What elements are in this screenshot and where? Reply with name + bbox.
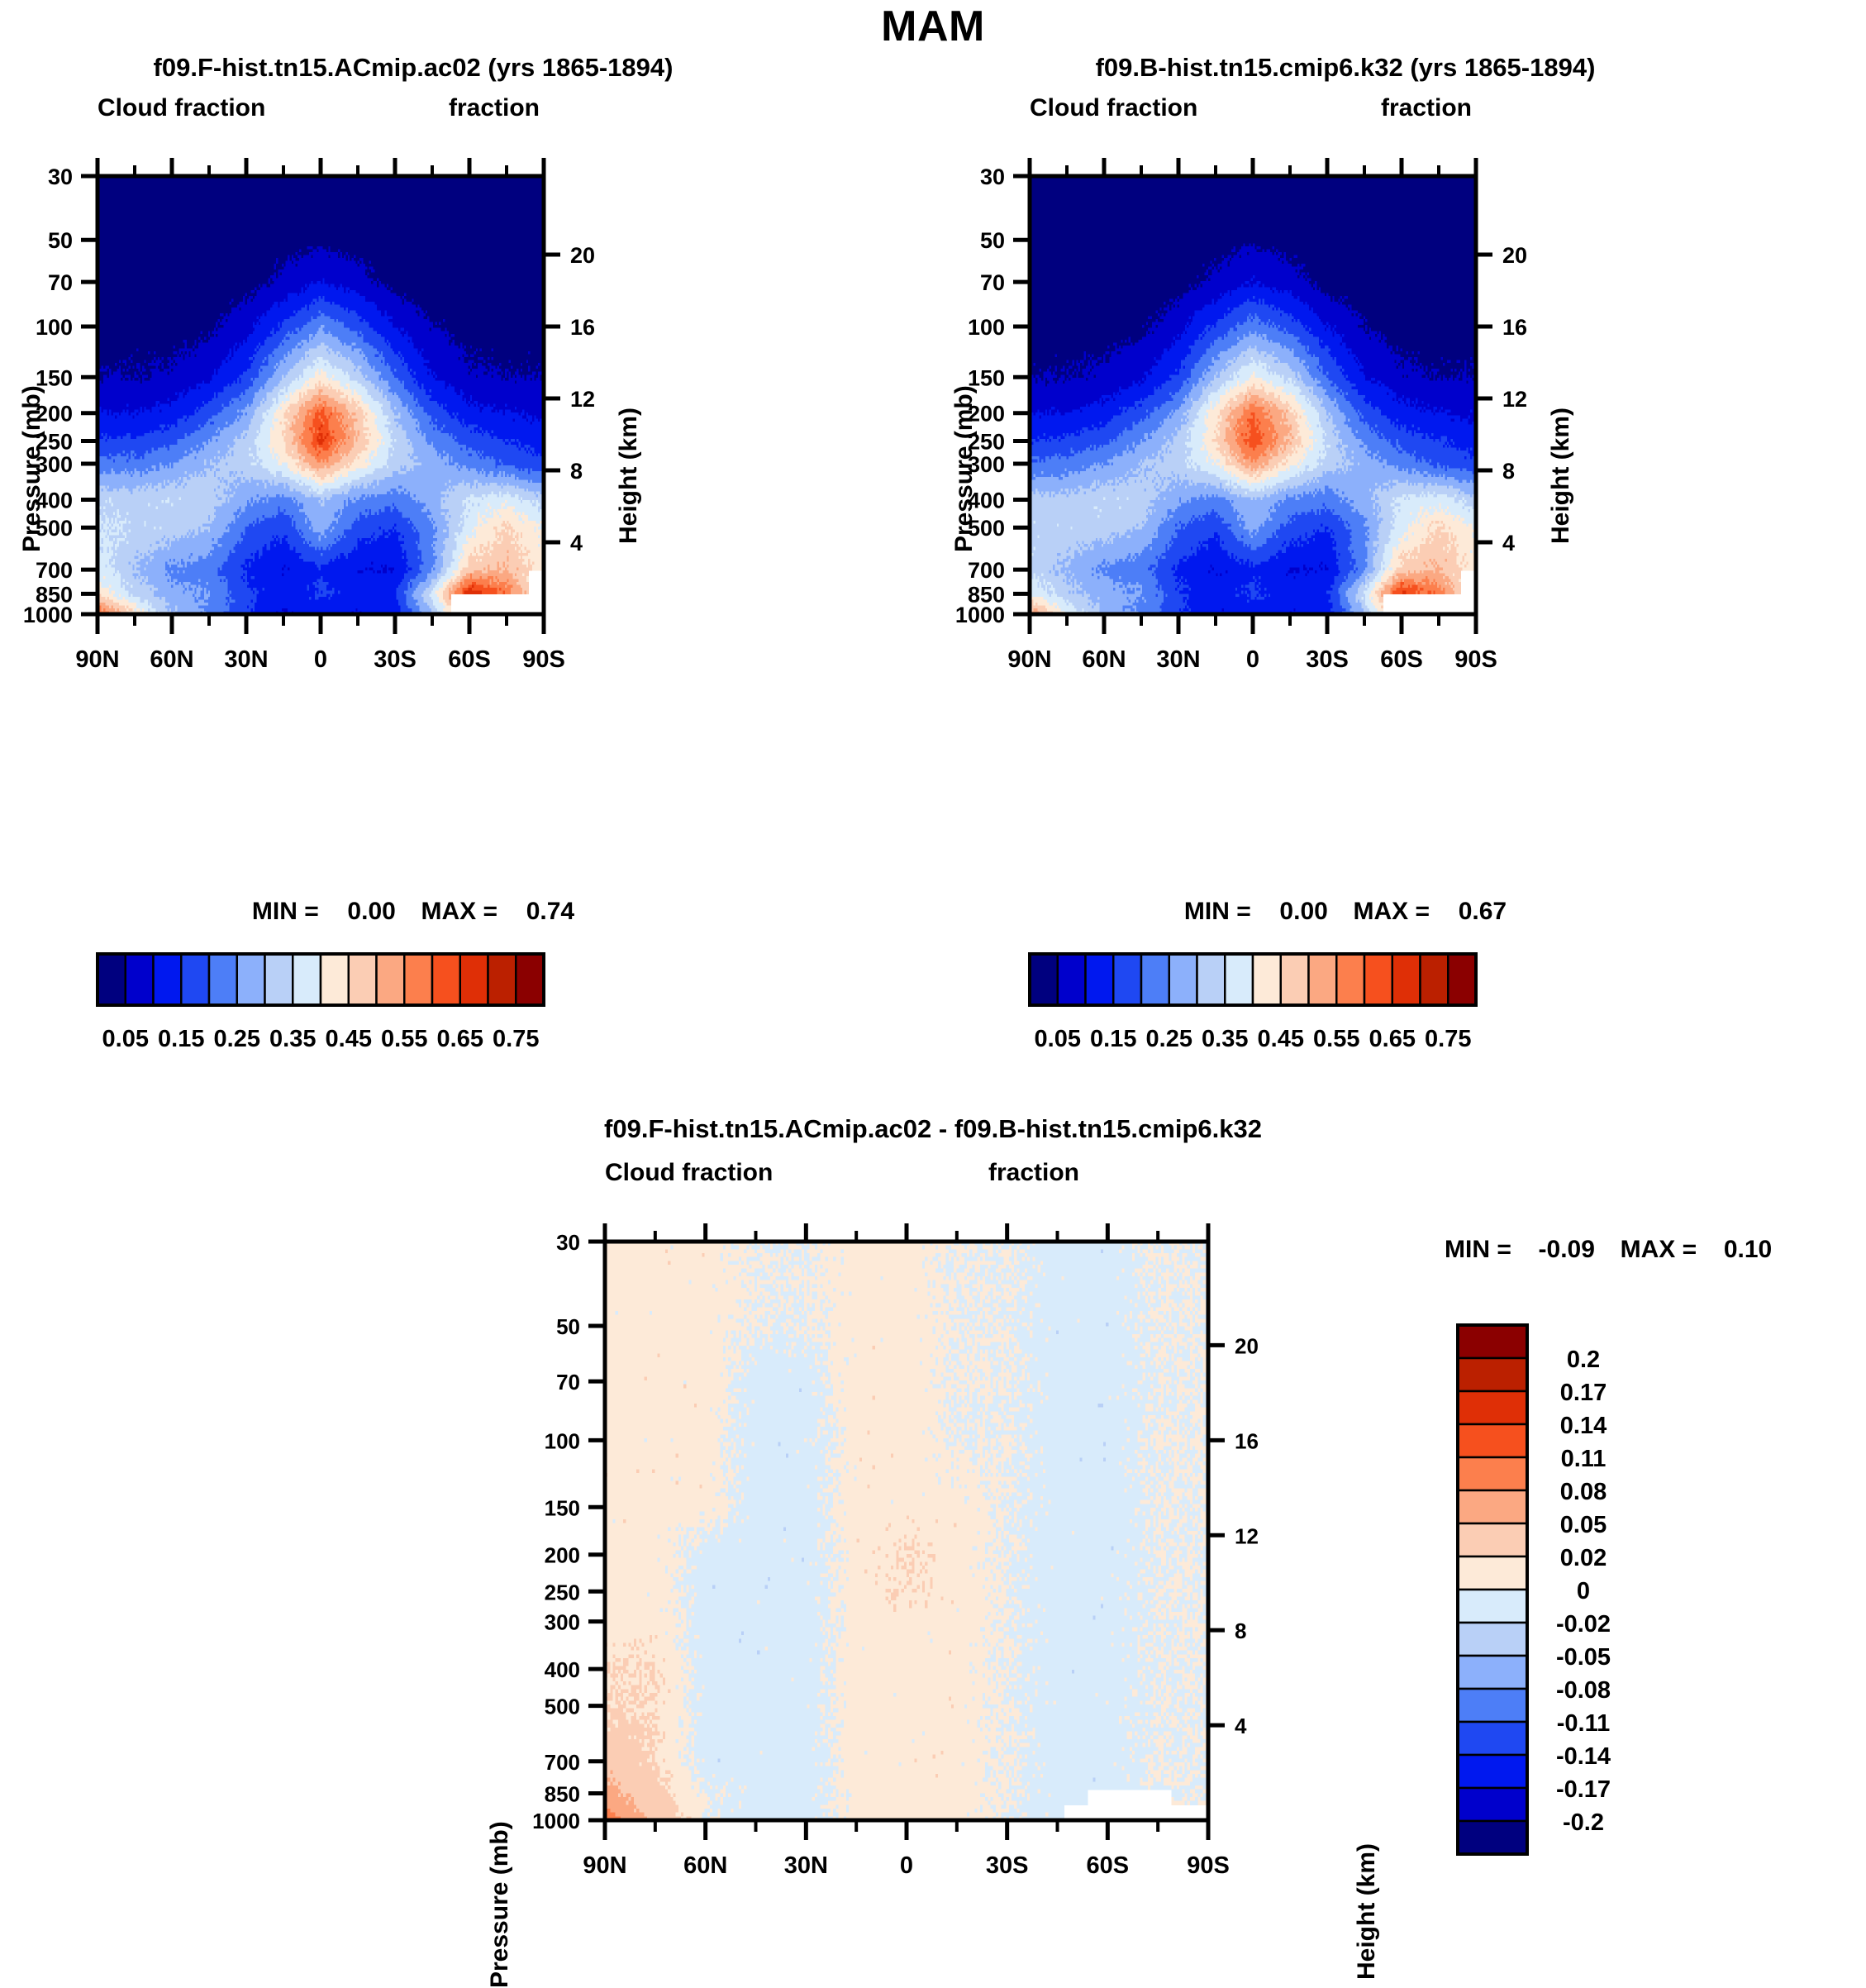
panel-right-minmax: MIN = 0.00 MAX = 0.67: [932, 898, 1759, 926]
colorbar-swatch: [1086, 954, 1114, 1005]
pressure-tick-label: 200: [545, 1543, 580, 1568]
panel-left-max-label: MAX =: [421, 898, 498, 925]
colorbar-tick-label: 0.11: [1561, 1446, 1607, 1472]
colorbar-swatch: [1392, 954, 1421, 1005]
pressure-tick-label: 250: [36, 429, 73, 454]
colorbar-swatch: [1458, 1557, 1527, 1590]
latitude-tick-label: 30N: [1156, 646, 1200, 673]
colorbar-tick-label: 0.15: [158, 1026, 204, 1052]
latitude-tick-label: 90N: [1007, 646, 1051, 673]
colorbar-tick-label: -0.08: [1556, 1677, 1611, 1704]
pressure-tick-label: 700: [545, 1750, 580, 1775]
colorbar-swatch: [1309, 954, 1337, 1005]
pressure-tick-label: 70: [48, 270, 73, 295]
colorbar-tick-label: 0.05: [102, 1026, 149, 1052]
latitude-tick-label: 60N: [150, 646, 193, 673]
latitude-tick-label: 90N: [583, 1852, 626, 1879]
panel-diff-min-label: MIN =: [1445, 1236, 1511, 1263]
latitude-tick-label: 0: [314, 646, 327, 673]
colorbar-tick-label: 0.55: [1313, 1026, 1359, 1052]
latitude-tick-label: 90S: [522, 646, 565, 673]
colorbar-swatch: [1364, 954, 1392, 1005]
panel-right-max-label: MAX =: [1354, 898, 1430, 925]
panel-left-plot: 3050701001502002503004005007008501000201…: [0, 48, 934, 924]
pressure-tick-label: 1000: [23, 603, 73, 627]
latitude-tick-label: 60S: [1087, 1852, 1130, 1879]
latitude-tick-label: 60N: [683, 1852, 727, 1879]
pressure-tick-label: 70: [980, 270, 1005, 295]
latitude-tick-label: 90N: [75, 646, 119, 673]
latitude-tick-label: 0: [1246, 646, 1259, 673]
colorbar-swatch: [181, 954, 209, 1005]
colorbar-tick-label: 0.25: [1146, 1026, 1192, 1052]
pressure-tick-label: 100: [968, 315, 1005, 340]
colorbar-swatch: [293, 954, 321, 1005]
pressure-tick-label: 400: [968, 489, 1005, 513]
colorbar-swatch: [237, 954, 265, 1005]
pressure-tick-label: 70: [556, 1370, 580, 1394]
pressure-tick-label: 150: [968, 365, 1005, 390]
pressure-tick-label: 700: [968, 558, 1005, 583]
colorbar-swatch: [98, 954, 126, 1005]
colorbar-swatch: [1141, 954, 1169, 1005]
colorbar-tick-label: 0.45: [326, 1026, 372, 1052]
pressure-tick-label: 400: [545, 1657, 580, 1682]
panel-left: f09.F-hist.tn15.ACmip.ac02 (yrs 1865-189…: [0, 48, 934, 1131]
pressure-tick-label: 30: [980, 164, 1005, 189]
colorbar-tick-label: 0.55: [381, 1026, 427, 1052]
latitude-tick-label: 90S: [1454, 646, 1497, 673]
panel-left-max-value: 0.74: [526, 898, 574, 925]
colorbar-swatch: [1421, 954, 1449, 1005]
colorbar-tick-label: 0.17: [1560, 1380, 1607, 1406]
colorbar-swatch: [1458, 1623, 1527, 1656]
pressure-tick-label: 50: [980, 228, 1005, 253]
colorbar-swatch: [1458, 1457, 1527, 1490]
pressure-tick-label: 200: [36, 402, 73, 427]
colorbar-tick-label: 0.25: [214, 1026, 260, 1052]
pressure-tick-label: 250: [968, 429, 1005, 454]
latitude-tick-label: 30N: [784, 1852, 828, 1879]
latitude-tick-label: 30S: [1306, 646, 1349, 673]
colorbar-swatch: [126, 954, 154, 1005]
colorbar-swatch: [1169, 954, 1197, 1005]
pressure-tick-label: 30: [48, 164, 73, 189]
colorbar-swatch: [1458, 1325, 1527, 1358]
colorbar-swatch: [321, 954, 349, 1005]
colorbar-swatch: [265, 954, 293, 1005]
colorbar-tick-label: 0.75: [1425, 1026, 1471, 1052]
colorbar-swatch: [516, 954, 544, 1005]
panel-diff-max-value: 0.10: [1724, 1236, 1772, 1263]
latitude-tick-label: 90S: [1187, 1852, 1230, 1879]
latitude-tick-label: 0: [900, 1852, 913, 1879]
panel-right-min-label: MIN =: [1184, 898, 1251, 925]
panel-diff-min-value: -0.09: [1539, 1236, 1595, 1263]
pressure-tick-label: 150: [545, 1495, 580, 1520]
panel-diff-colorbar: 0.20.170.140.110.080.050.020-0.02-0.05-0…: [1438, 1310, 1785, 1905]
panel-right: f09.B-hist.tn15.cmip6.k32 (yrs 1865-1894…: [932, 48, 1866, 1131]
colorbar-swatch: [349, 954, 377, 1005]
colorbar-swatch: [154, 954, 182, 1005]
pressure-tick-label: 250: [545, 1580, 580, 1604]
latitude-tick-label: 30S: [986, 1852, 1029, 1879]
colorbar-tick-label: 0.35: [269, 1026, 316, 1052]
panel-right-max-value: 0.67: [1459, 898, 1507, 925]
pressure-tick-label: 500: [968, 516, 1005, 541]
pressure-tick-label: 200: [968, 402, 1005, 427]
pressure-tick-label: 300: [545, 1610, 580, 1635]
colorbar-swatch: [377, 954, 405, 1005]
panel-diff: f09.F-hist.tn15.ACmip.ac02 - f09.B-hist.…: [0, 1108, 1866, 1957]
pressure-tick-label: 150: [36, 365, 73, 390]
colorbar-tick-label: 0.45: [1258, 1026, 1304, 1052]
colorbar-swatch: [488, 954, 516, 1005]
pressure-tick-label: 1000: [955, 603, 1005, 627]
panel-left-min-value: 0.00: [347, 898, 395, 925]
colorbar-tick-label: 0.2: [1567, 1347, 1600, 1373]
colorbar-swatch: [1458, 1689, 1527, 1722]
pressure-tick-label: 50: [48, 228, 73, 253]
pressure-tick-label: 100: [36, 315, 73, 340]
latitude-tick-label: 60S: [1380, 646, 1423, 673]
figure-title: MAM: [0, 2, 1866, 51]
colorbar-swatch: [1448, 954, 1476, 1005]
colorbar-swatch: [1113, 954, 1141, 1005]
panel-right-colorbar: 0.050.150.250.350.450.550.650.75: [932, 929, 1759, 1078]
pressure-tick-label: 850: [545, 1782, 580, 1807]
colorbar-swatch: [1458, 1490, 1527, 1523]
pressure-tick-label: 500: [36, 516, 73, 541]
colorbar-tick-label: -0.05: [1556, 1644, 1611, 1671]
colorbar-swatch: [460, 954, 488, 1005]
colorbar-swatch: [1458, 1358, 1527, 1391]
colorbar-tick-label: 0.15: [1090, 1026, 1136, 1052]
colorbar-swatch: [1458, 1755, 1527, 1788]
colorbar-swatch: [1197, 954, 1226, 1005]
colorbar-tick-label: -0.02: [1556, 1611, 1611, 1638]
panel-right-plot: 3050701001502002503004005007008501000201…: [932, 48, 1866, 924]
panel-diff-max-label: MAX =: [1621, 1236, 1697, 1263]
colorbar-swatch: [1458, 1424, 1527, 1457]
pressure-tick-label: 400: [36, 489, 73, 513]
colorbar-swatch: [1458, 1523, 1527, 1557]
panel-right-min-value: 0.00: [1279, 898, 1327, 925]
latitude-tick-label: 60S: [448, 646, 491, 673]
colorbar-tick-label: 0.65: [1369, 1026, 1416, 1052]
latitude-tick-label: 30N: [224, 646, 268, 673]
pressure-tick-label: 300: [968, 452, 1005, 477]
colorbar-tick-label: 0.08: [1560, 1479, 1607, 1505]
colorbar-tick-label: 0: [1577, 1578, 1590, 1604]
colorbar-swatch: [432, 954, 460, 1005]
pressure-tick-label: 500: [545, 1695, 580, 1719]
colorbar-swatch: [404, 954, 432, 1005]
colorbar-tick-label: -0.14: [1556, 1743, 1611, 1770]
panel-left-minmax: MIN = 0.00 MAX = 0.74: [0, 898, 826, 926]
colorbar-swatch: [1058, 954, 1086, 1005]
colorbar-tick-label: -0.11: [1557, 1710, 1611, 1737]
colorbar-swatch: [1458, 1391, 1527, 1424]
colorbar-tick-label: -0.17: [1556, 1776, 1611, 1803]
colorbar-swatch: [1458, 1722, 1527, 1755]
colorbar-tick-label: 0.02: [1560, 1545, 1607, 1571]
pressure-tick-label: 50: [556, 1314, 580, 1339]
colorbar-swatch: [1458, 1656, 1527, 1689]
panel-diff-minmax: MIN = -0.09 MAX = 0.10: [1445, 1236, 1772, 1264]
colorbar-swatch: [1458, 1821, 1527, 1854]
latitude-tick-label: 30S: [374, 646, 417, 673]
pressure-tick-label: 700: [36, 558, 73, 583]
colorbar-tick-label: 0.65: [437, 1026, 483, 1052]
pressure-tick-label: 30: [556, 1230, 580, 1255]
colorbar-swatch: [1336, 954, 1364, 1005]
colorbar-swatch: [209, 954, 237, 1005]
colorbar-tick-label: 0.14: [1560, 1413, 1607, 1439]
pressure-tick-label: 100: [545, 1428, 580, 1453]
colorbar-tick-label: 0.05: [1560, 1512, 1607, 1538]
colorbar-tick-label: 0.75: [493, 1026, 539, 1052]
latitude-tick-label: 60N: [1082, 646, 1126, 673]
colorbar-swatch: [1458, 1788, 1527, 1821]
colorbar-swatch: [1281, 954, 1309, 1005]
colorbar-tick-label: -0.2: [1563, 1809, 1604, 1836]
pressure-tick-label: 300: [36, 452, 73, 477]
colorbar-tick-label: 0.05: [1035, 1026, 1081, 1052]
colorbar-swatch: [1458, 1590, 1527, 1623]
colorbar-tick-label: 0.35: [1202, 1026, 1248, 1052]
panel-left-colorbar: 0.050.150.250.350.450.550.650.75: [0, 929, 826, 1078]
colorbar-swatch: [1225, 954, 1253, 1005]
pressure-tick-label: 1000: [532, 1809, 580, 1833]
panel-left-min-label: MIN =: [252, 898, 319, 925]
colorbar-swatch: [1253, 954, 1281, 1005]
colorbar-swatch: [1030, 954, 1058, 1005]
